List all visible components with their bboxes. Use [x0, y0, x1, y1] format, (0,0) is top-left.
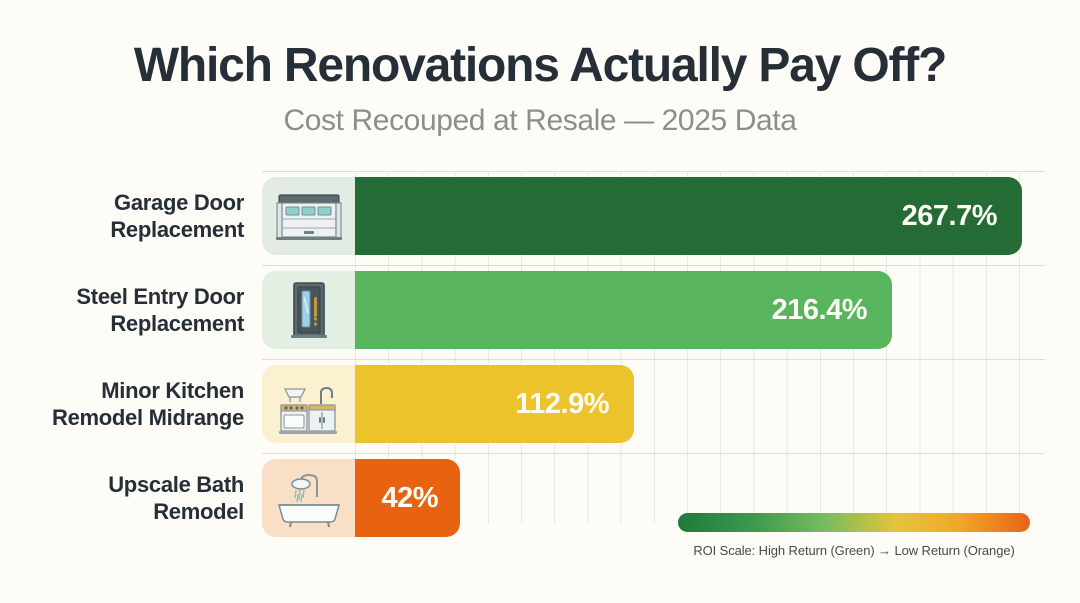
- chart-canvas: Which Renovations Actually Pay Off? Cost…: [0, 0, 1080, 603]
- bar-label-line2: Replacement: [12, 310, 244, 337]
- bar-minor-kitchen[interactable]: 112.9%: [355, 365, 634, 443]
- row-separator: [262, 359, 1045, 360]
- bar-row-garage-door[interactable]: Garage Door Replacement 267.7%: [0, 177, 1080, 255]
- row-separator: [262, 453, 1045, 454]
- bar-label-line1: Garage Door: [12, 189, 244, 216]
- bar-label-line1: Upscale Bath: [12, 471, 244, 498]
- bar-label-line1: Steel Entry Door: [12, 283, 244, 310]
- bar-row-steel-entry-door[interactable]: Steel Entry Door Replacement 216.4%: [0, 271, 1080, 349]
- bar-label-line2: Remodel: [12, 498, 244, 525]
- bar-upscale-bath[interactable]: 42%: [355, 459, 460, 537]
- row-separator: [262, 171, 1045, 172]
- roi-scale-caption: ROI Scale: High Return (Green) → Low Ret…: [678, 543, 1030, 558]
- bar-label-line2: Replacement: [12, 216, 244, 243]
- kitchen-icon: [262, 365, 355, 443]
- steel-entry-door-icon: [262, 271, 355, 349]
- page-subtitle: Cost Recouped at Resale — 2025 Data: [0, 104, 1080, 138]
- bar-value-label: 112.9%: [515, 388, 609, 421]
- bar-label-line1: Minor Kitchen: [12, 377, 244, 404]
- page-title: Which Renovations Actually Pay Off?: [0, 38, 1080, 93]
- roi-gradient-scale: [678, 513, 1030, 532]
- garage-door-icon: [262, 177, 355, 255]
- bar-steel-entry-door[interactable]: 216.4%: [355, 271, 892, 349]
- bar-row-minor-kitchen[interactable]: Minor Kitchen Remodel Midrange: [0, 365, 1080, 443]
- bar-garage-door[interactable]: 267.7%: [355, 177, 1022, 255]
- bar-value-label: 42%: [381, 482, 438, 515]
- bathtub-icon: [262, 459, 355, 537]
- bar-value-label: 267.7%: [902, 200, 997, 233]
- bar-label-line2: Remodel Midrange: [12, 404, 244, 431]
- row-separator: [262, 265, 1045, 266]
- bar-value-label: 216.4%: [772, 294, 867, 327]
